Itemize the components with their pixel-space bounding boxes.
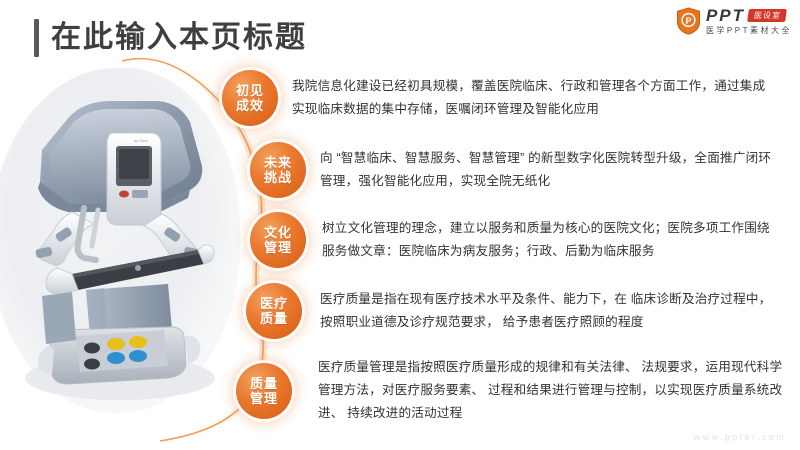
list-item[interactable]: 未来 挑战 向 “智慧临床、智慧服务、智慧管理” 的新型数字化医院转型升级，全面… [250, 142, 772, 198]
list-item[interactable]: 文化 管理 树立文化管理的理念，建立以服务和质量为核心的医院文化；医院多项工作围… [250, 212, 774, 268]
title-accent-bar [34, 19, 39, 57]
item-badge-3[interactable]: 医疗 质量 [246, 283, 302, 339]
list-item[interactable]: 质量 管理 医疗质量管理是指按照医疗质量形成的规律和有关法律、 法规要求，运用现… [236, 356, 786, 425]
item-badge-line2: 质量 [260, 311, 288, 326]
item-badge-line2: 成效 [236, 98, 264, 113]
item-badge-line1: 文化 [264, 225, 292, 240]
item-badge-line1: 初见 [236, 83, 264, 98]
item-text-4: 医疗质量管理是指按照医疗质量形成的规律和有关法律、 法规要求，运用现代科学管理方… [318, 356, 786, 425]
item-text-2: 树立文化管理的理念，建立以服务和质量为核心的医院文化；医院多项工作围绕服务做文章… [322, 217, 774, 263]
item-badge-0[interactable]: 初见 成效 [222, 70, 278, 126]
item-badge-line2: 管理 [264, 240, 292, 255]
item-text-0: 我院信息化建设已经初具规模，覆盖医院临床、行政和管理各个方面工作，通过集成实现临… [292, 75, 770, 121]
item-badge-4[interactable]: 质量 管理 [236, 363, 292, 419]
brand-logo: P PPT 医设室 医学PPT素材大全 [676, 4, 792, 38]
svg-text:P: P [685, 16, 691, 26]
svg-text:da Vinci: da Vinci [134, 138, 148, 143]
logo-badge: 医设室 [747, 9, 787, 22]
logo-primary-row: PPT 医设室 [706, 7, 792, 24]
watermark: www.ppter.com [694, 432, 786, 442]
list-item[interactable]: 初见 成效 我院信息化建设已经初具规模，覆盖医院临床、行政和管理各个方面工作，通… [222, 70, 770, 126]
logo-tagline: 医学PPT素材大全 [706, 26, 792, 35]
surgical-robot-image: da Vinci [12, 78, 227, 408]
item-badge-2[interactable]: 文化 管理 [250, 212, 306, 268]
illustration-zone: da Vinci [0, 68, 250, 424]
item-text-3: 医疗质量是指在现有医疗技术水平及条件、能力下，在 临床诊断及治疗过程中，按照职业… [320, 288, 775, 334]
item-badge-1[interactable]: 未来 挑战 [250, 142, 306, 198]
item-badge-line1: 质量 [250, 376, 278, 391]
logo-text-group: PPT 医设室 医学PPT素材大全 [706, 7, 792, 35]
shield-icon: P [676, 7, 701, 35]
page-title: 在此输入本页标题 [51, 18, 307, 58]
item-badge-line2: 挑战 [264, 170, 292, 185]
logo-brand-text: PPT [706, 7, 745, 24]
item-text-1: 向 “智慧临床、智慧服务、智慧管理” 的新型数字化医院转型升级，全面推广闭环管理… [320, 147, 772, 193]
page-title-group: 在此输入本页标题 [34, 18, 307, 58]
item-badge-line1: 医疗 [260, 296, 288, 311]
slide-canvas: 在此输入本页标题 P PPT 医设室 医学PPT素材大全 [0, 0, 800, 450]
item-badge-line1: 未来 [264, 155, 292, 170]
item-badge-line2: 管理 [250, 391, 278, 406]
list-item[interactable]: 医疗 质量 医疗质量是指在现有医疗技术水平及条件、能力下，在 临床诊断及治疗过程… [246, 283, 775, 339]
